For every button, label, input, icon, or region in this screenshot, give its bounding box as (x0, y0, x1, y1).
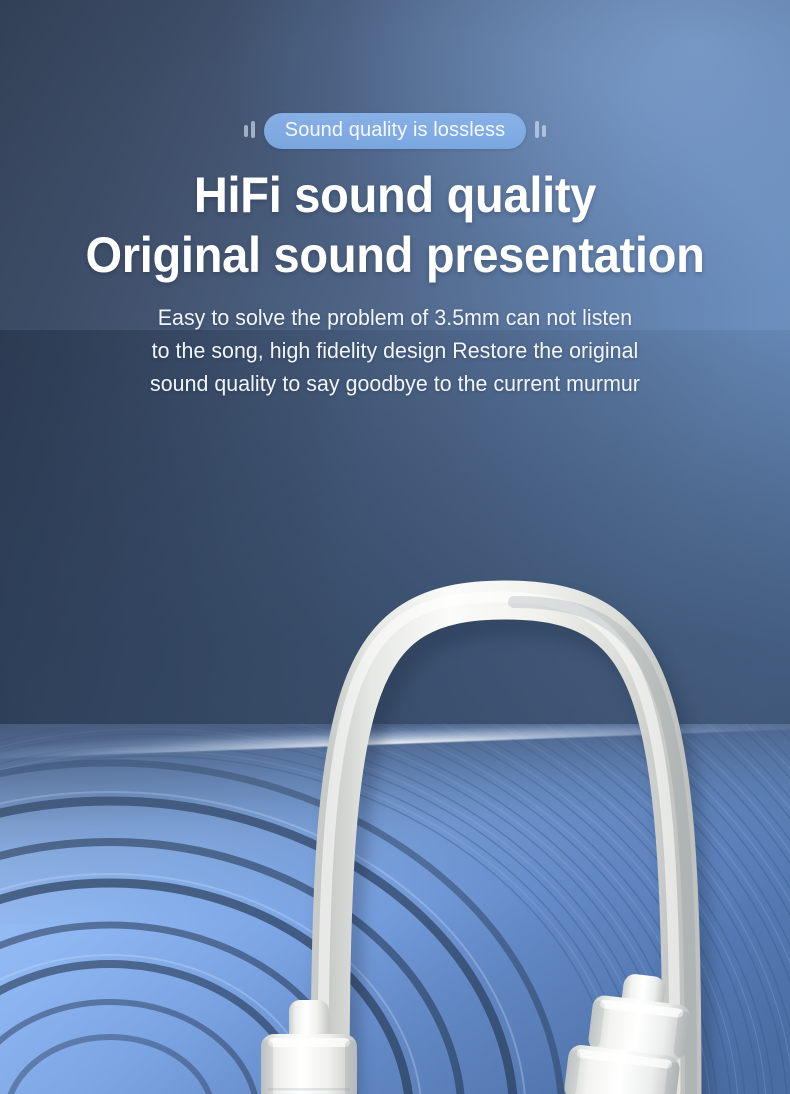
marketing-copy-block: Sound quality is lossless HiFi sound qua… (0, 0, 790, 400)
status-badge: Sound quality is lossless (264, 113, 526, 149)
product-poster: Sound quality is lossless HiFi sound qua… (0, 0, 790, 1094)
vinyl-grooves-graphic (0, 724, 790, 1094)
page-title: HiFi sound quality Original sound presen… (24, 165, 767, 285)
badge-row: Sound quality is lossless (0, 113, 790, 149)
quote-bars-right-icon (535, 120, 546, 142)
description-line-1: Easy to solve the problem of 3.5mm can n… (85, 301, 706, 334)
vinyl-record-surface (0, 724, 790, 1094)
quote-bars-left-icon (244, 120, 255, 142)
description-text: Easy to solve the problem of 3.5mm can n… (85, 301, 706, 400)
headline-line-1: HiFi sound quality (24, 165, 767, 225)
headline-line-2: Original sound presentation (24, 225, 767, 285)
description-line-3: sound quality to say goodbye to the curr… (85, 367, 706, 400)
description-line-2: to the song, high fidelity design Restor… (85, 334, 706, 367)
